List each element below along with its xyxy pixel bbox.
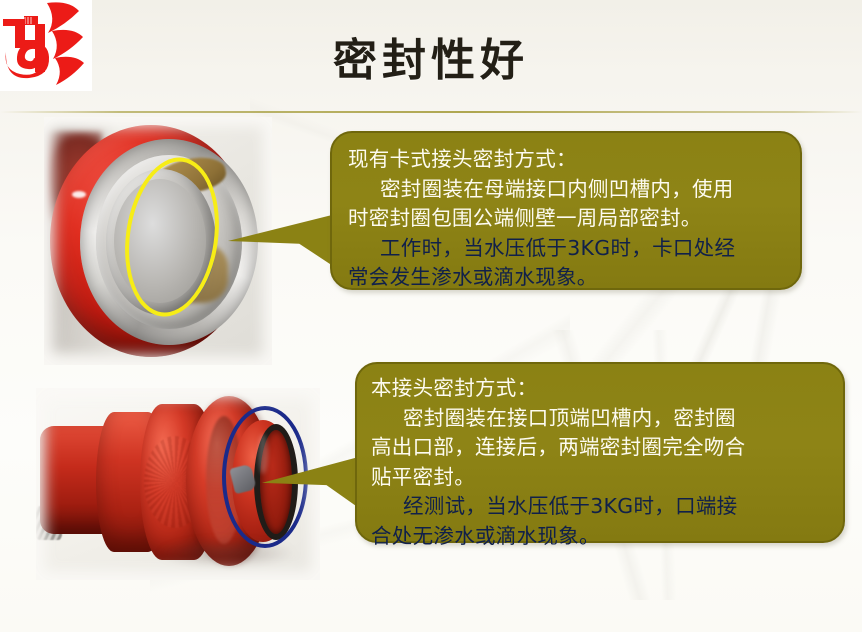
page-title: 密封性好 [0,24,862,88]
callout-line: 密封圈装在接口顶端凹槽内，密封圈 [371,404,829,434]
slide-canvas: 密封性好 现有卡式接头密封方式： [0,0,862,632]
new-coupling-photo [36,388,320,580]
existing-seal-callout: 现有卡式接头密封方式： 密封圈装在母端接口内侧凹槽内，使用 时密封圈包围公端侧壁… [330,131,802,290]
callout-line: 密封圈装在母端接口内侧凹槽内，使用 [348,175,786,205]
callout-line: 本接头密封方式： [371,374,829,404]
callout-line: 现有卡式接头密封方式： [348,145,786,175]
callout-line: 工作时，当水压低于3KG时，卡口处经 [348,234,786,264]
callout-line: 高出口部，连接后，两端密封圈完全吻合 [371,433,829,463]
specular-highlight [72,191,86,198]
callout-line: 经测试，当水压低于3KG时，口端接 [371,492,829,522]
callout-line: 合处无渗水或滴水现象。 [371,522,829,552]
callout-line: 时密封圈包围公端侧壁一周局部密封。 [348,204,786,234]
callout-line: 常会发生渗水或滴水现象。 [348,263,786,293]
new-seal-callout: 本接头密封方式： 密封圈装在接口顶端凹槽内，密封圈 高出口部，连接后，两端密封圈… [355,362,845,543]
header-divider [0,111,862,113]
callout-line: 贴平密封。 [371,463,829,493]
